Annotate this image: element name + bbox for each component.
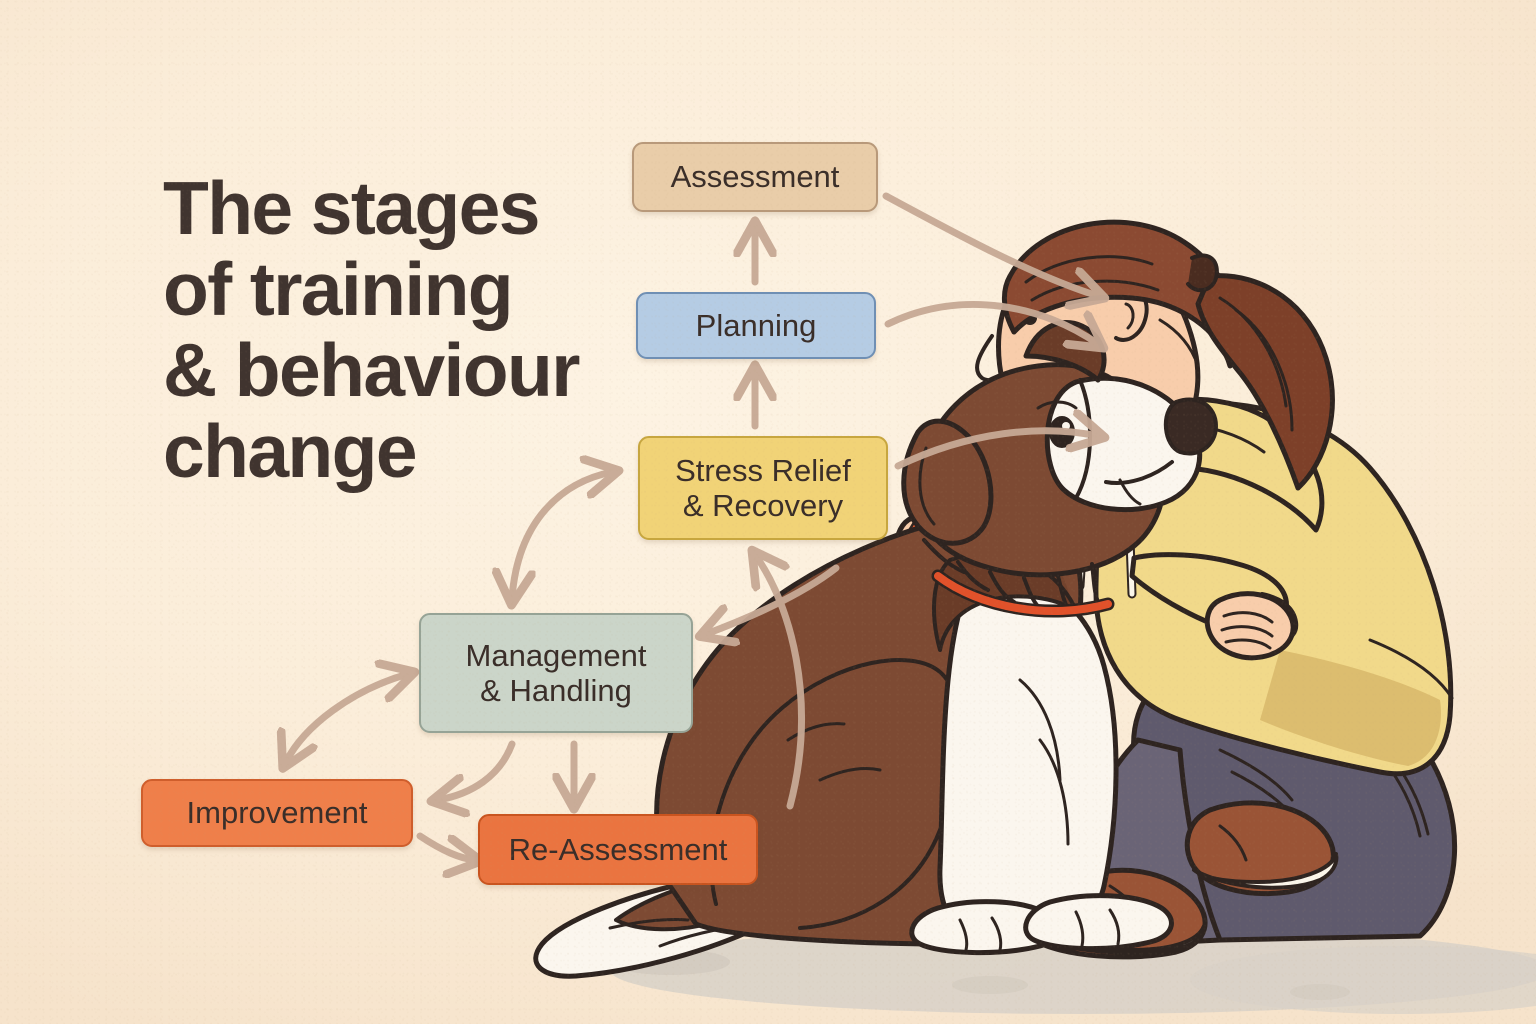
title-line-4: change (163, 411, 633, 492)
arrow-improvement-to-reassessment (420, 836, 474, 860)
flow-node-management[interactable]: Management & Handling (419, 613, 693, 733)
flow-node-improvement[interactable]: Improvement (141, 779, 413, 847)
flow-node-reassessment[interactable]: Re-Assessment (478, 814, 758, 885)
flow-node-planning[interactable]: Planning (636, 292, 876, 359)
flow-node-management-line2: & Handling (480, 673, 632, 708)
flow-node-management-line1: Management (466, 638, 647, 673)
flow-node-improvement-label: Improvement (187, 795, 368, 830)
flow-node-stress-relief-label: Stress Relief & Recovery (675, 453, 851, 524)
flow-node-stress-relief[interactable]: Stress Relief & Recovery (638, 436, 888, 540)
title-line-3: & behaviour (163, 330, 633, 411)
flow-node-management-label: Management & Handling (466, 638, 647, 709)
flow-node-stress-line1: Stress Relief (675, 453, 851, 488)
arrow-management-improvement (286, 674, 408, 762)
title-line-2: of training (163, 249, 633, 330)
dog-nose (1166, 399, 1216, 453)
dog-eye (1051, 418, 1073, 446)
flow-node-planning-label: Planning (696, 308, 817, 343)
poster-canvas: The stages of training & behaviour chang… (0, 0, 1536, 1024)
flow-node-assessment[interactable]: Assessment (632, 142, 878, 212)
dog-front-paw-right (1026, 896, 1172, 949)
title-line-1: The stages (163, 168, 633, 249)
arrow-management-curve-left (438, 744, 512, 800)
flow-node-stress-line2: & Recovery (683, 488, 843, 523)
flow-node-assessment-label: Assessment (671, 159, 840, 194)
page-title: The stages of training & behaviour chang… (163, 168, 633, 492)
dog-chest (940, 574, 1116, 946)
flow-node-reassessment-label: Re-Assessment (509, 832, 728, 867)
